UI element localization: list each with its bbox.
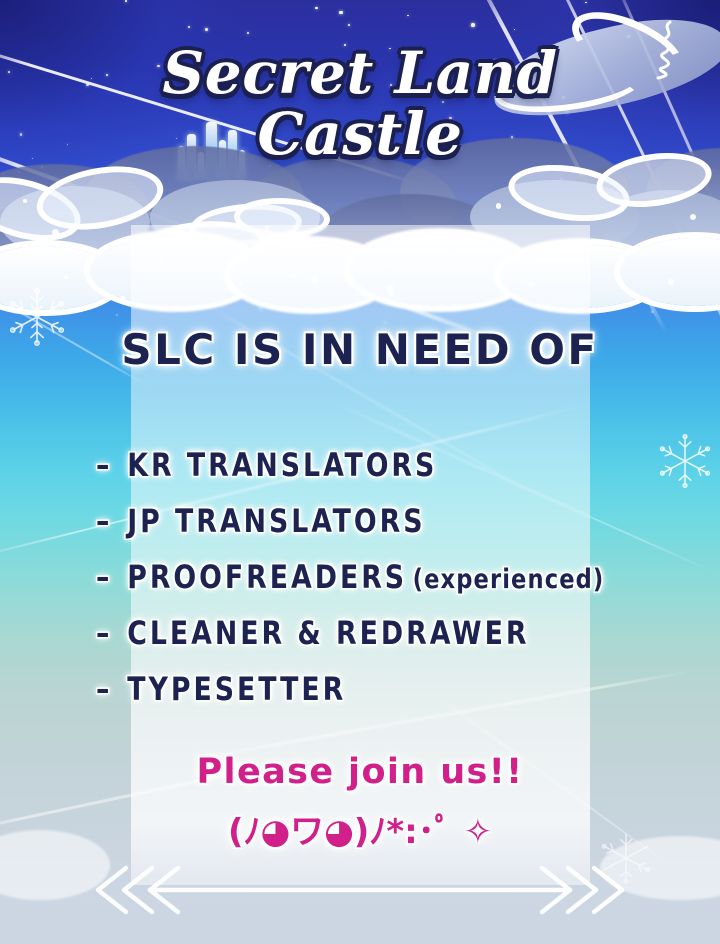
need-item-dash: – xyxy=(96,558,112,596)
need-item-role: PROOFREADERS xyxy=(127,558,407,596)
needs-list: –KR TRANSLATORS–JP TRANSLATORS–PROOFREAD… xyxy=(96,446,656,726)
call-to-action: Please join us!! (ﾉ◕ワ◕)ﾉ*:･ﾟ ✧ xyxy=(0,752,720,853)
need-item: –PROOFREADERS(experienced) xyxy=(96,558,617,596)
comet-cloud xyxy=(480,2,720,137)
cloud-dot xyxy=(607,198,610,201)
need-item-dash: – xyxy=(96,502,112,540)
need-item: –KR TRANSLATORS xyxy=(96,446,617,484)
need-item-dash: – xyxy=(96,670,112,708)
arrow-divider-ornament xyxy=(0,860,720,920)
cloud-dot xyxy=(64,276,67,279)
comet-squiggle-icon xyxy=(648,20,688,87)
cloud-dot xyxy=(120,296,126,302)
need-item-note: (experienced) xyxy=(413,564,605,595)
need-item-role: JP TRANSLATORS xyxy=(127,502,425,540)
need-item-role: TYPESETTER xyxy=(127,670,346,708)
need-item: –TYPESETTER xyxy=(96,670,617,708)
need-item: –CLEANER & REDRAWER xyxy=(96,614,617,652)
need-item-role: KR TRANSLATORS xyxy=(127,446,437,484)
poster-root: Secret Land Castle SLC IS IN NEED OF –KR… xyxy=(0,0,720,944)
headline-text: SLC IS IN NEED OF xyxy=(0,325,720,374)
cta-message: Please join us!! xyxy=(0,752,720,792)
cta-kaomoji: (ﾉ◕ワ◕)ﾉ*:･ﾟ ✧ xyxy=(0,804,720,853)
need-item-role: CLEANER & REDRAWER xyxy=(127,614,529,652)
need-item: –JP TRANSLATORS xyxy=(96,502,617,540)
snowflake-icon-right xyxy=(656,432,714,495)
need-item-dash: – xyxy=(96,614,112,652)
cloud-dot xyxy=(23,199,27,203)
need-item-dash: – xyxy=(96,446,112,484)
